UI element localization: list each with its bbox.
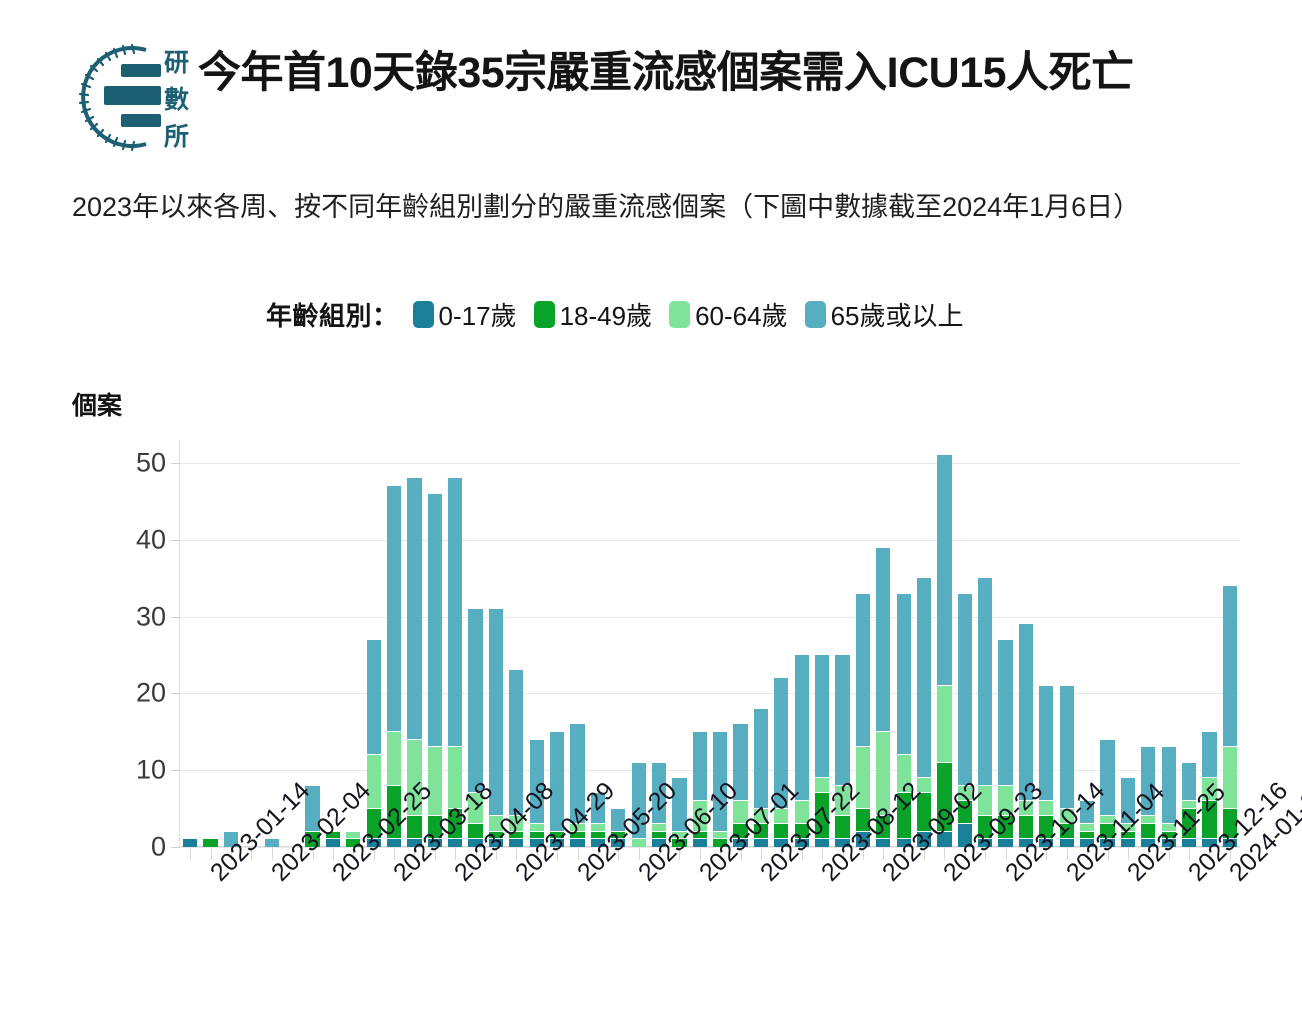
bar-2023-09-23[interactable] [937, 455, 951, 847]
bar-segment-65歲或以上 [1162, 747, 1176, 824]
logo-char-yan: 研 [164, 49, 189, 77]
legend-swatch-60-64 [669, 301, 690, 328]
chart-legend: 年齡組別： 0-17歲 18-49歲 60-64歲 65歲或以上 [266, 296, 980, 333]
legend-label-60-64: 60-64歲 [695, 296, 788, 333]
legend-title: 年齡組別： [266, 296, 399, 333]
y-tick-label-10: 10 [106, 755, 166, 786]
bar-segment-65歲或以上 [1223, 586, 1237, 747]
bar-segment-65歲或以上 [897, 594, 911, 755]
bar-segment-65歲或以上 [998, 640, 1012, 786]
bar-segment-65歲或以上 [1019, 624, 1033, 801]
bar-segment-65歲或以上 [1202, 732, 1216, 778]
bar-segment-65歲或以上 [917, 578, 931, 778]
page-header: 研 數 所 今年首10天錄35宗嚴重流感個案需入ICU15人死亡 [0, 0, 1302, 156]
logo-char-shu: 數 [164, 86, 189, 114]
y-tick-mark-20 [171, 693, 180, 694]
y-axis-title: 個案 [72, 386, 122, 422]
legend-item-18-49[interactable]: 18-49歲 [534, 296, 653, 333]
bar-segment-65歲或以上 [937, 455, 951, 685]
bar-segment-60-64歲 [428, 747, 442, 816]
bar-segment-65歲或以上 [428, 494, 442, 747]
bar-2023-01-07[interactable] [183, 839, 197, 847]
bar-segment-60-64歲 [387, 732, 401, 786]
y-tick-mark-30 [171, 617, 180, 618]
bar-2023-10-07[interactable] [978, 578, 992, 847]
legend-label-65-plus: 65歲或以上 [831, 296, 964, 333]
y-tick-label-50: 50 [106, 448, 166, 479]
bar-segment-65歲或以上 [693, 732, 707, 801]
bar-segment-65歲或以上 [387, 486, 401, 732]
logo-char-suo: 所 [164, 123, 189, 151]
bar-segment-65歲或以上 [448, 478, 462, 747]
bar-2024-01-06[interactable] [1223, 586, 1237, 847]
bar-2023-04-22[interactable] [489, 609, 503, 847]
bar-segment-65歲或以上 [795, 655, 809, 801]
y-tick-mark-40 [171, 540, 180, 541]
page-title: 今年首10天錄35宗嚴重流感個案需入ICU15人死亡 [198, 48, 1134, 99]
bar-segment-65歲或以上 [407, 478, 421, 739]
bar-segment-65歲或以上 [856, 594, 870, 748]
legend-item-65-plus[interactable]: 65歲或以上 [805, 296, 964, 333]
bar-segment-65歲或以上 [468, 609, 482, 793]
y-tick-mark-10 [171, 770, 180, 771]
bar-2023-08-26[interactable] [856, 594, 870, 847]
bar-segment-18-49歲 [203, 839, 217, 847]
bar-segment-0-17歲 [183, 839, 197, 847]
bar-2023-04-08[interactable] [448, 478, 462, 847]
bar-segment-65歲或以上 [489, 609, 503, 816]
bar-segment-65歲或以上 [815, 655, 829, 778]
legend-swatch-0-17 [413, 301, 434, 328]
y-tick-mark-50 [171, 463, 180, 464]
bar-segment-65歲或以上 [1039, 686, 1053, 801]
x-axis-labels: 2023-01-142023-02-042023-02-252023-03-18… [0, 847, 1302, 1017]
legend-item-60-64[interactable]: 60-64歲 [669, 296, 788, 333]
bar-2023-01-14[interactable] [203, 839, 217, 847]
bar-2023-09-16[interactable] [917, 578, 931, 847]
bar-segment-65歲或以上 [958, 594, 972, 786]
y-tick-label-30: 30 [106, 601, 166, 632]
legend-item-0-17[interactable]: 0-17歲 [413, 296, 517, 333]
bar-segment-65歲或以上 [1060, 686, 1074, 809]
bar-segment-60-64歲 [937, 686, 951, 763]
legend-label-18-49: 18-49歲 [560, 296, 653, 333]
organization-logo: 研 數 所 [72, 38, 190, 156]
bar-segment-65歲或以上 [367, 640, 381, 755]
bar-2023-03-18[interactable] [387, 486, 401, 847]
legend-label-0-17: 0-17歲 [439, 296, 517, 333]
legend-swatch-18-49 [534, 301, 555, 328]
page-subtitle: 2023年以來各周、按不同年齡組別劃分的嚴重流感個案（下圖中數據截至2024年1… [72, 188, 1252, 227]
y-tick-label-40: 40 [106, 524, 166, 555]
bar-segment-65歲或以上 [978, 578, 992, 785]
bar-segment-65歲或以上 [835, 655, 849, 786]
legend-swatch-65-plus [805, 301, 826, 328]
y-tick-label-20: 20 [106, 678, 166, 709]
bar-segment-65歲或以上 [876, 548, 890, 732]
bar-segment-60-64歲 [815, 778, 829, 793]
